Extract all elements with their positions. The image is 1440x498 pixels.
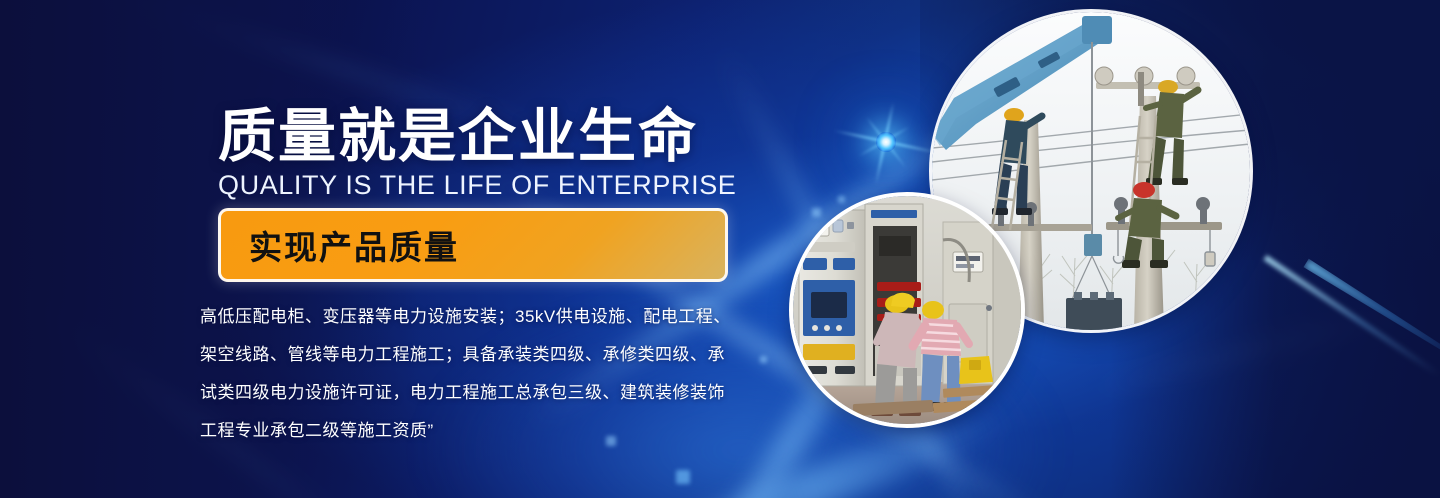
description-line: 高低压配电柜、变压器等电力设施安装；35kV供电设施、配电工程、 [200,298,780,336]
light-burst [885,141,887,143]
description-paragraph: 高低压配电柜、变压器等电力设施安装；35kV供电设施、配电工程、 架空线路、管线… [200,298,780,450]
promo-banner: 质量就是企业生命 QUALITY IS THE LIFE OF ENTERPRI… [0,0,1440,498]
headline-english: QUALITY IS THE LIFE OF ENTERPRISE [218,170,736,200]
headline-chinese: 质量就是企业生命 [218,106,698,168]
description-line: 试类四级电力设施许可证，电力工程施工总承包三级、建筑装修装饰 [200,374,780,412]
burst-core [876,132,896,152]
cta-button[interactable]: 实现产品质量 [218,208,728,282]
photo-switchgear-installation [793,196,1021,424]
text-content: 质量就是企业生命 QUALITY IS THE LIFE OF ENTERPRI… [0,0,800,498]
description-line: 架空线路、管线等电力工程施工；具备承装类四级、承修类四级、承 [200,336,780,374]
sparkle-dot [812,208,821,217]
sparkle-dot [838,196,845,203]
description-line: 工程专业承包二级等施工资质” [200,412,780,450]
cta-button-label: 实现产品质量 [249,221,459,269]
